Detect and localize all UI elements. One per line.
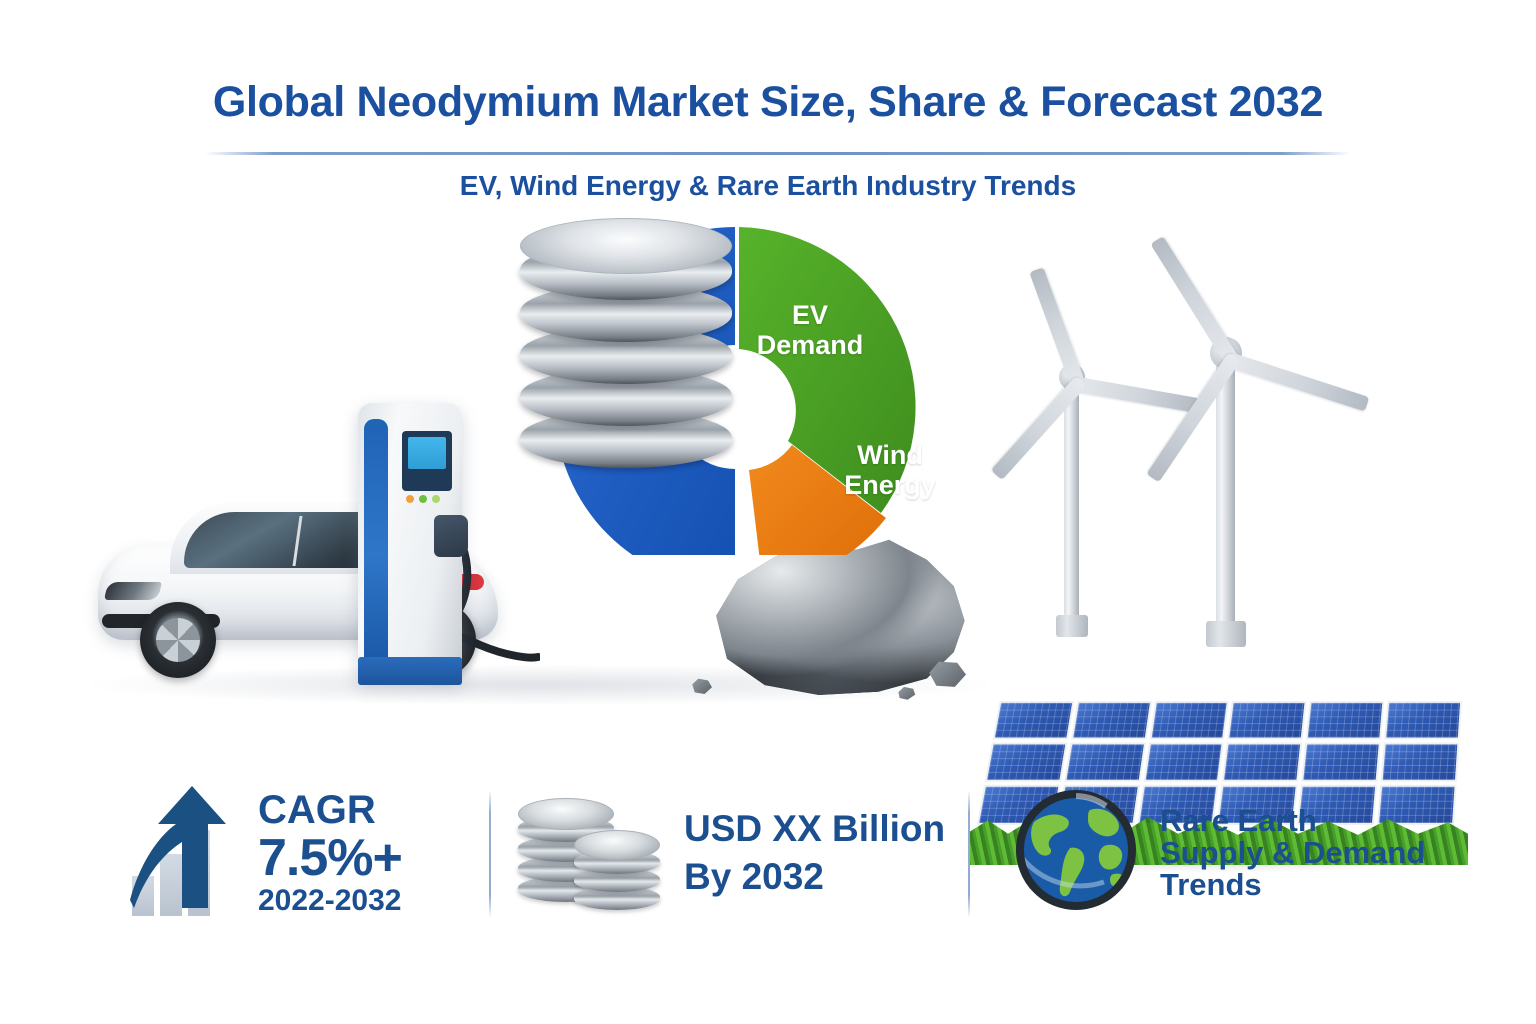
stat-rare-earth-line1: Rare Earth: [1160, 805, 1425, 837]
stats-divider-1: [489, 790, 491, 918]
charging-nozzle-icon: [434, 515, 468, 557]
title-divider: [205, 152, 1350, 155]
charger-display: [402, 431, 452, 491]
stat-cagr-text: CAGR 7.5%+ 2022-2032: [258, 790, 402, 917]
ev-charging-station-icon: [358, 403, 462, 693]
page-title: Global Neodymium Market Size, Share & Fo…: [0, 78, 1536, 127]
neodymium-magnet-stack-icon: [520, 218, 732, 468]
wind-energy-illustration: [960, 225, 1460, 685]
stat-rare-earth-text: Rare Earth Supply & Demand Trends: [1160, 805, 1425, 902]
wheel-front: [140, 602, 216, 678]
stat-rare-earth: Rare Earth Supply & Demand Trends: [1012, 768, 1425, 938]
stats-row: CAGR 7.5%+ 2022-2032 USD XX Billi: [0, 768, 1536, 938]
stat-rare-earth-line3: Trends: [1160, 869, 1425, 901]
globe-icon: [1012, 786, 1140, 914]
headlight-icon: [104, 582, 162, 600]
stat-market-value-text: USD XX Billion By 2032: [684, 810, 945, 897]
charger-status-leds: [406, 495, 440, 503]
stat-market-value: USD XX Billion By 2032: [512, 768, 945, 938]
stat-cagr-value: 7.5%+: [258, 831, 402, 885]
stats-divider-2: [968, 790, 970, 918]
growth-arrow-icon: [130, 784, 252, 916]
stat-rare-earth-line2: Supply & Demand: [1160, 837, 1425, 869]
stat-market-value-line2: By 2032: [684, 858, 945, 896]
stat-cagr-period: 2022-2032: [258, 885, 402, 916]
stat-cagr-label: CAGR: [258, 790, 402, 832]
stat-cagr: CAGR 7.5%+ 2022-2032: [130, 768, 402, 938]
infographic-canvas: Global Neodymium Market Size, Share & Fo…: [0, 0, 1536, 1024]
stat-market-value-line1: USD XX Billion: [684, 810, 945, 848]
page-subtitle: EV, Wind Energy & Rare Earth Industry Tr…: [0, 170, 1536, 202]
coin-stack-icon: [512, 790, 662, 912]
